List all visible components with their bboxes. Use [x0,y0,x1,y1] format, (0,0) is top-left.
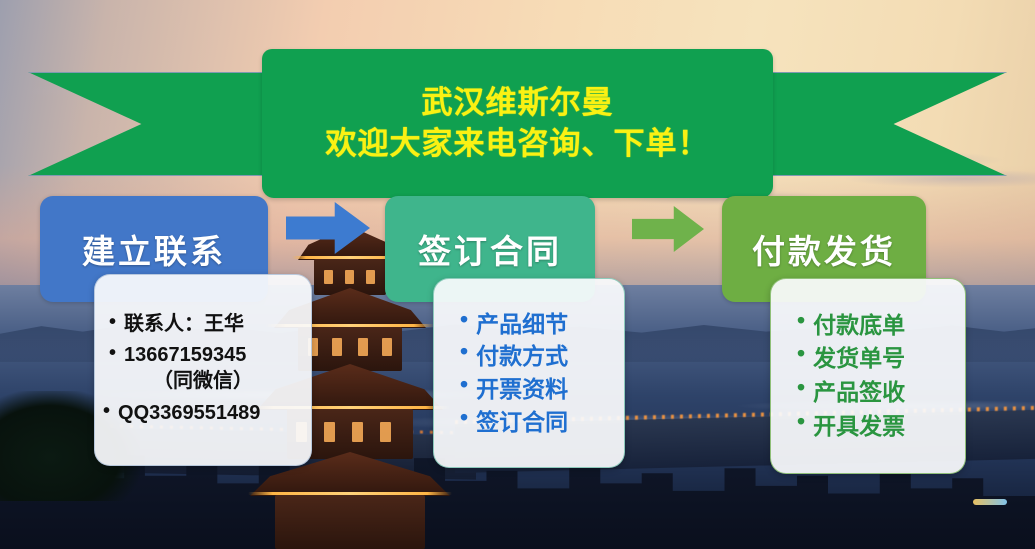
bullet-dot: • [460,340,468,363]
step2-item-2: 付款方式 [476,340,568,373]
step2-details-card: • 产品细节 • 付款方式 • 开票资料 • 签订合同 [433,278,625,468]
promo-poster: 武汉维斯尔曼 欢迎大家来电咨询、下单！ 建立联系 • 联系人：王华 • 1366… [0,0,1035,549]
step2-item-3: 开票资料 [476,373,568,406]
bullet-dot: • [460,373,468,396]
arrow-step1-to-step2 [286,202,370,254]
step3-item-1: 付款底单 [813,309,905,343]
list-item: • 开具发票 [797,410,965,444]
step2-item-1: 产品细节 [476,308,568,341]
step3-item-2: 发货单号 [813,342,905,376]
bullet-dot: • [797,376,805,399]
wechat-note: （同微信） [95,369,311,395]
contact-person: 联系人：王华 [124,312,244,338]
list-item: • 付款方式 [460,340,624,373]
list-item: • 付款底单 [797,309,965,343]
step3-title: 付款发货 [752,225,896,273]
company-name: 武汉维斯尔曼 [422,85,614,122]
step-establish-contact: 建立联系 • 联系人：王华 • 13667159345 （同微信） • QQ33… [40,196,268,302]
river-boat [973,499,1007,505]
list-item: • 签订合同 [460,406,624,439]
step3-details-card: • 付款底单 • 发货单号 • 产品签收 • 开具发票 [770,278,966,474]
process-flow: 建立联系 • 联系人：王华 • 13667159345 （同微信） • QQ33… [0,196,1035,496]
arrow-step2-to-step3 [632,206,704,252]
step1-details-card: • 联系人：王华 • 13667159345 （同微信） • QQ3369551… [94,274,312,466]
bullet-dot: • [797,309,805,332]
bullet-dot: • [797,342,805,365]
list-item: • 产品签收 [797,376,965,410]
phone-number: 13667159345 [124,343,246,369]
step3-item-4: 开具发票 [813,410,905,444]
welcome-message: 欢迎大家来电咨询、下单！ [326,126,710,163]
bullet-dot: • [103,401,110,421]
bullet-dot: • [460,308,468,331]
bullet-dot: • [797,410,805,433]
list-item: • 产品细节 [460,308,624,341]
list-item: • 联系人：王华 [95,312,311,338]
list-item: • QQ3369551489 [95,401,311,427]
bullet-dot: • [460,406,468,429]
step2-item-4: 签订合同 [476,406,568,439]
list-item: • 13667159345 [95,343,311,369]
ribbon-center-panel: 武汉维斯尔曼 欢迎大家来电咨询、下单！ [262,49,773,198]
qq-number: QQ3369551489 [118,401,260,427]
step1-title: 建立联系 [82,225,226,273]
step3-item-3: 产品签收 [813,376,905,410]
list-item: • 发货单号 [797,342,965,376]
step-sign-contract: 签订合同 • 产品细节 • 付款方式 • 开票资料 • 签订合同 [385,196,595,302]
arrow-right-icon [632,206,704,252]
bullet-dot: • [109,312,116,332]
arrow-right-icon [286,202,370,254]
step2-title: 签订合同 [418,225,562,273]
bullet-dot: • [109,343,116,363]
step-payment-shipping: 付款发货 • 付款底单 • 发货单号 • 产品签收 • 开具发票 [722,196,926,302]
list-item: • 开票资料 [460,373,624,406]
title-ribbon: 武汉维斯尔曼 欢迎大家来电咨询、下单！ [0,72,1035,176]
